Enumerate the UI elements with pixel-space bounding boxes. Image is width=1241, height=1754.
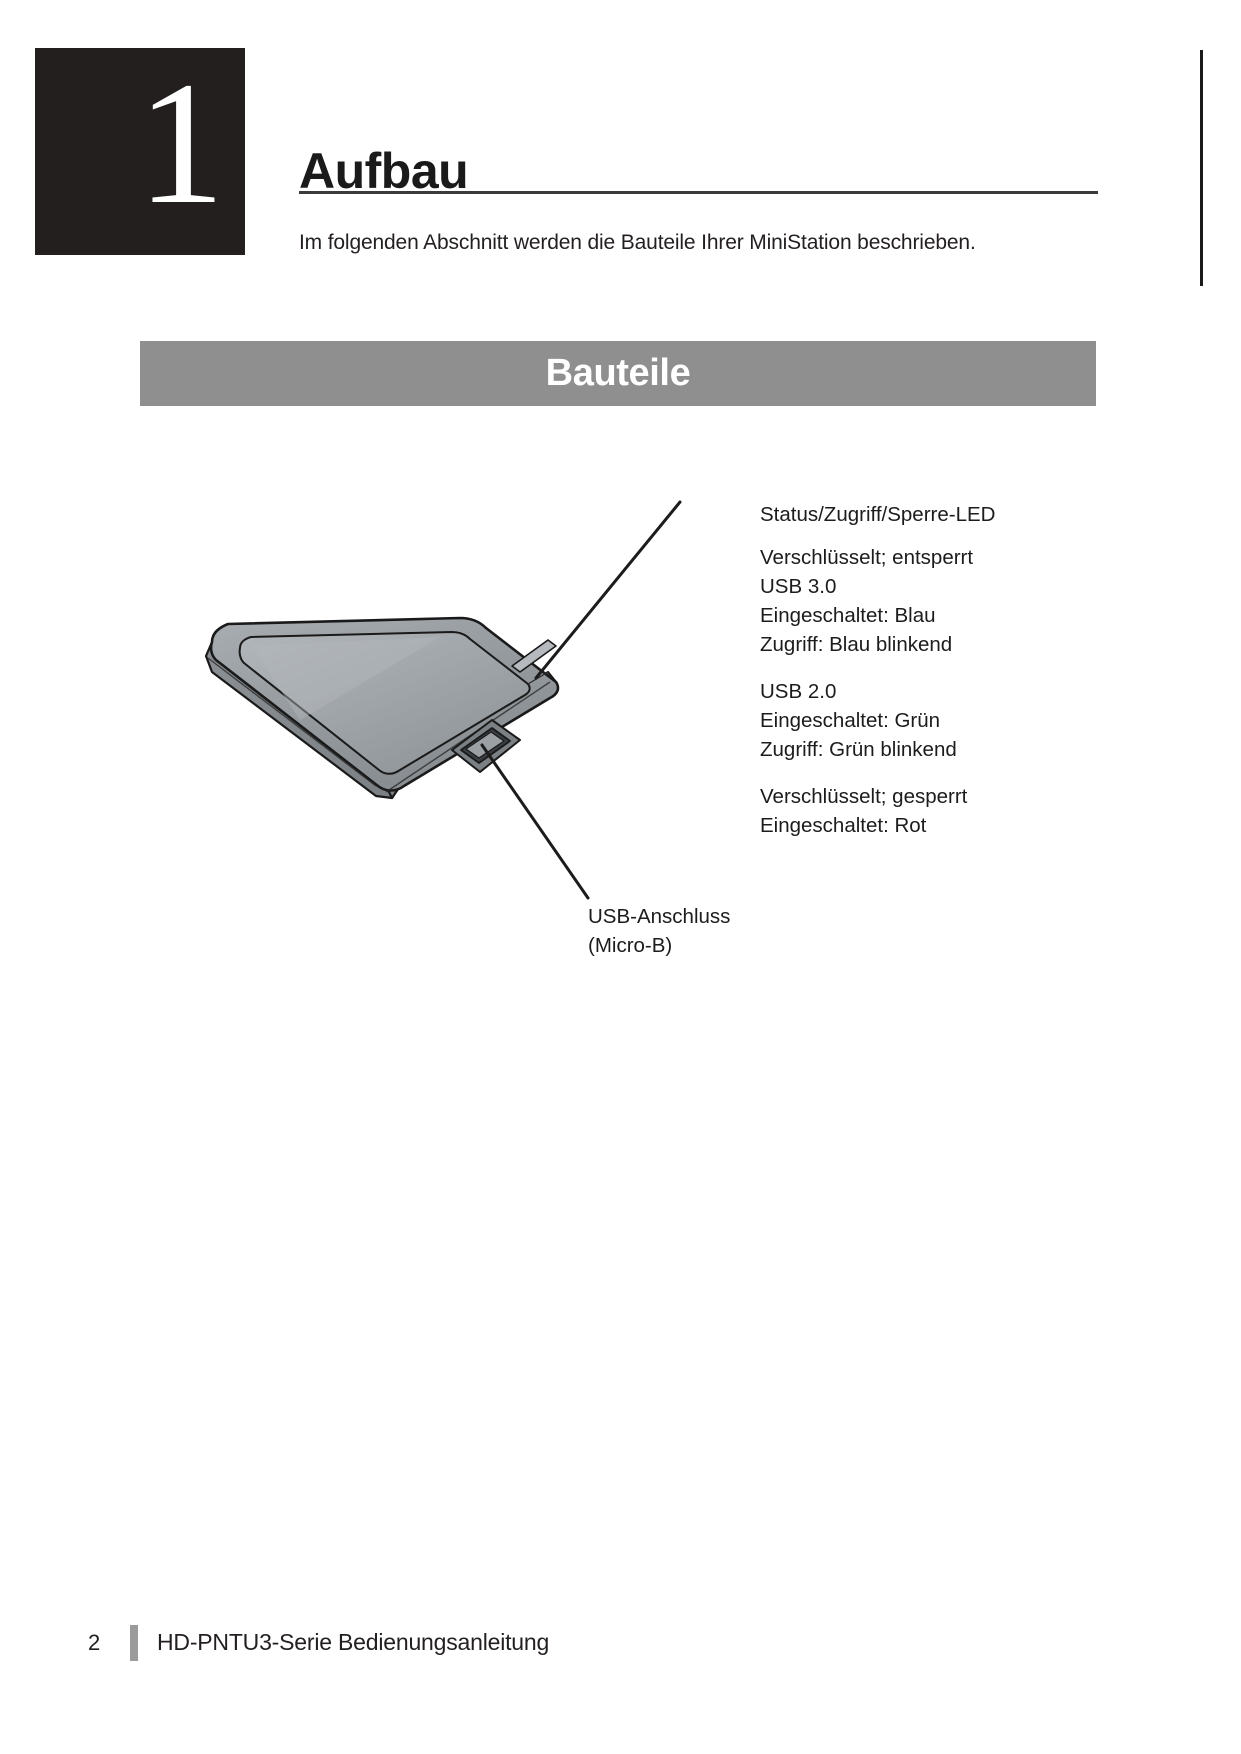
chapter-number-box: 1 [35,48,245,255]
callout-line: (Micro-B) [588,931,730,960]
chapter-subtitle: Im folgenden Abschnitt werden die Bautei… [299,231,976,255]
leader-line-led [536,502,680,678]
section-banner: Bauteile [140,341,1096,406]
callout-line: Eingeschaltet: Blau [760,601,995,630]
footer-page-number: 2 [88,1630,100,1656]
callout-line: Verschlüsselt; entsperrt [760,543,995,572]
footer-manual-title: HD-PNTU3-Serie Bedienungsanleitung [157,1629,549,1656]
callout-line: USB 3.0 [760,572,995,601]
page-title: Aufbau [299,146,468,196]
title-divider-rule [299,191,1098,194]
callout-line: Eingeschaltet: Rot [760,811,995,840]
footer-divider-bar [130,1625,138,1661]
callout-line: Zugriff: Grün blinkend [760,735,995,764]
callout-line: USB-Anschluss [588,902,730,931]
document-page: 1 Aufbau Im folgenden Abschnitt werden d… [0,0,1241,1754]
callout-led-legend: Status/Zugriff/Sperre-LED Verschlüsselt;… [760,500,995,840]
callout-line: Verschlüsselt; gesperrt [760,782,995,811]
chapter-number: 1 [137,56,223,232]
device-figure [0,430,1241,970]
callout-line: Status/Zugriff/Sperre-LED [760,500,995,529]
callout-line: Eingeschaltet: Grün [760,706,995,735]
callout-line: Zugriff: Blau blinkend [760,630,995,659]
device-illustration [0,430,1241,970]
leader-line-usb [482,745,588,898]
page-edge-marker-rule [1200,50,1203,286]
callout-line: USB 2.0 [760,677,995,706]
section-banner-label: Bauteile [546,352,691,395]
callout-usb-connector: USB-Anschluss (Micro-B) [588,902,730,960]
hdd-device-body [206,618,558,798]
page-footer: 2 HD-PNTU3-Serie Bedienungsanleitung [0,1625,1241,1671]
